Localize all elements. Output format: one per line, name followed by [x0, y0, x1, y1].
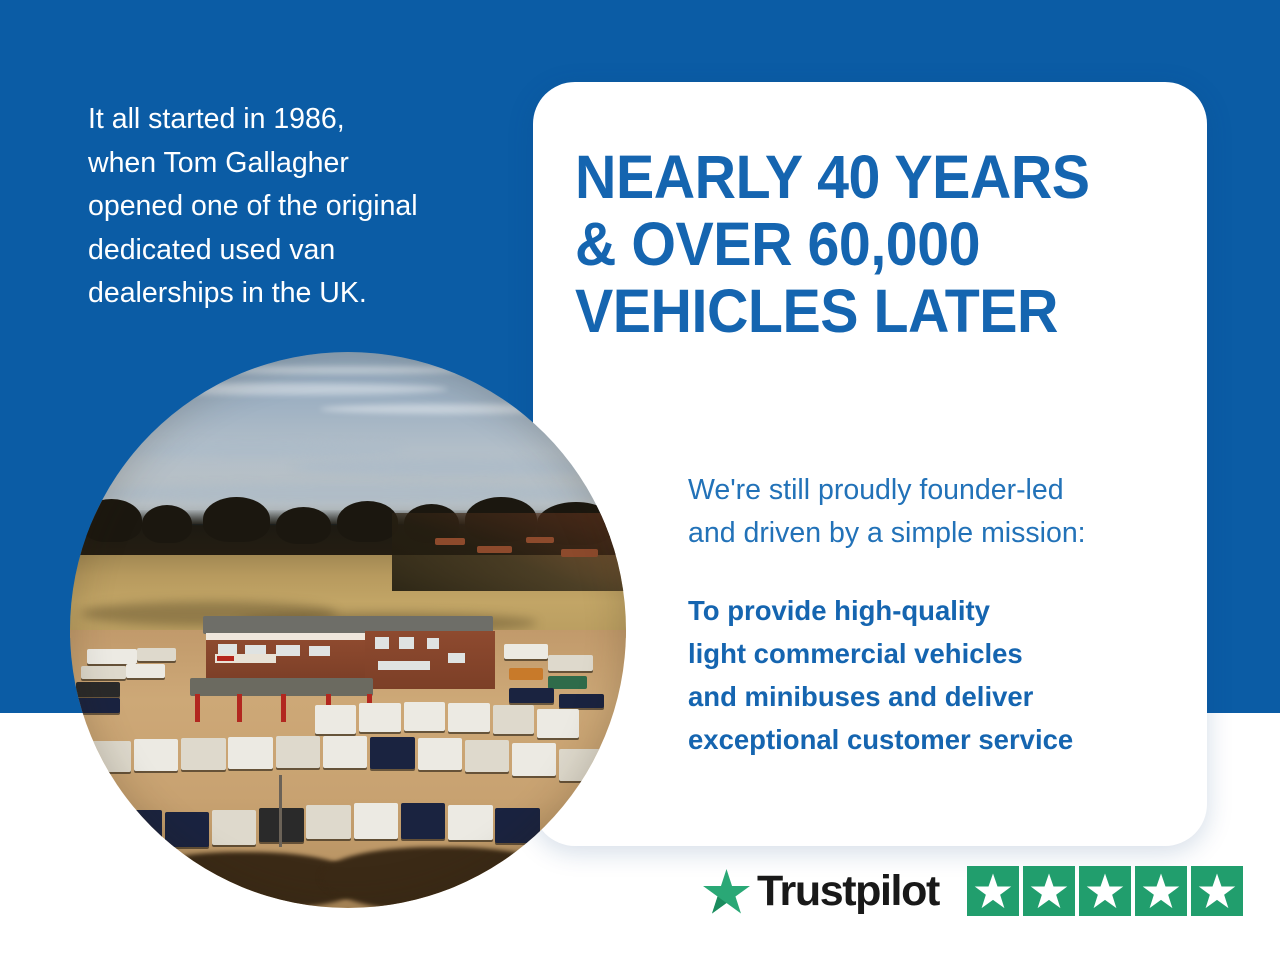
star-tile [1191, 866, 1243, 916]
star-tile [1023, 866, 1075, 916]
dealership-photo [70, 352, 626, 908]
star-tile [967, 866, 1019, 916]
trustpilot-wordmark: Trustpilot [757, 870, 939, 913]
photo-vignette [70, 352, 626, 908]
content-card: NEARLY 40 YEARS & OVER 60,000 VEHICLES L… [533, 82, 1207, 846]
intro-paragraph: It all started in 1986, when Tom Gallagh… [88, 98, 488, 316]
card-inner: NEARLY 40 YEARS & OVER 60,000 VEHICLES L… [533, 82, 1207, 846]
trustpilot-star-icon [703, 869, 750, 914]
star-tile [1079, 866, 1131, 916]
van [70, 808, 114, 842]
trustpilot-star-tiles [967, 866, 1243, 916]
trustpilot-logo: Trustpilot [703, 869, 939, 914]
infographic-stage: It all started in 1986, when Tom Gallagh… [0, 0, 1280, 960]
card-subheading: We're still proudly founder-led and driv… [688, 469, 1188, 556]
photo-scene [70, 352, 626, 908]
trustpilot-rating: Trustpilot [703, 866, 1243, 916]
page-title: NEARLY 40 YEARS & OVER 60,000 VEHICLES L… [575, 144, 1158, 345]
mission-statement: To provide high-quality light commercial… [688, 590, 1188, 762]
star-tile [1135, 866, 1187, 916]
